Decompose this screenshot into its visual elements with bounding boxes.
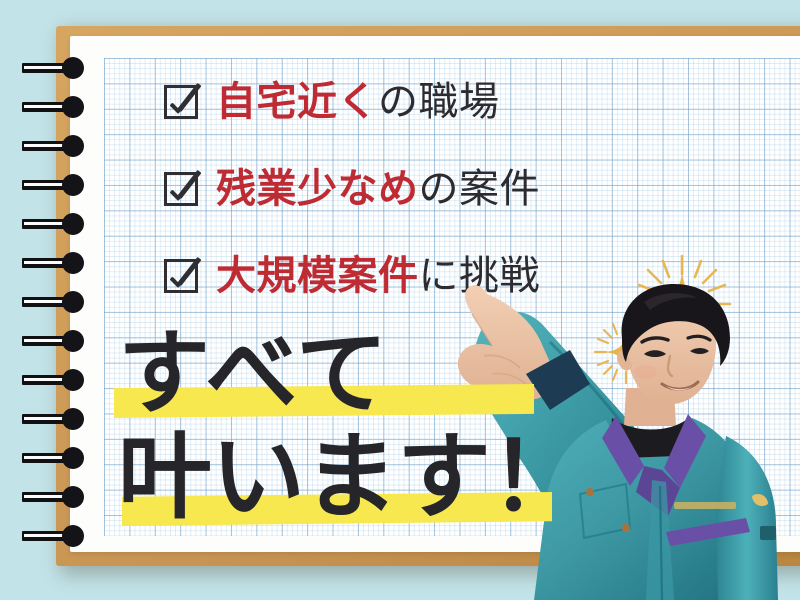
headline-text-2: 叶います！ bbox=[118, 426, 583, 530]
checklist-plain: の案件 bbox=[419, 166, 541, 212]
checklist-plain: の職場 bbox=[378, 79, 500, 125]
checkbox-checked-icon bbox=[164, 172, 198, 206]
headline-line-2: 叶います！ bbox=[118, 426, 548, 530]
checklist-highlight: 残業少なめ bbox=[216, 166, 419, 212]
spiral-ring-knob bbox=[62, 252, 84, 274]
spiral-ring-knob bbox=[62, 213, 84, 235]
spiral-ring-knob bbox=[62, 96, 84, 118]
spiral-ring-knob bbox=[62, 57, 84, 79]
checklist-highlight: 大規模案件 bbox=[216, 253, 419, 299]
spiral-ring-knob bbox=[62, 486, 84, 508]
spiral-ring-knob bbox=[62, 408, 84, 430]
spiral-ring-knob bbox=[62, 174, 84, 196]
spiral-ring-knob bbox=[62, 135, 84, 157]
checklist-highlight: 自宅近く bbox=[216, 79, 378, 125]
spiral-ring-knob bbox=[62, 330, 84, 352]
checklist-row: 残業少なめの案件 bbox=[164, 145, 684, 232]
spiral-ring-knob bbox=[62, 525, 84, 547]
checklist-text: 自宅近くの職場 bbox=[216, 82, 500, 122]
checkbox-checked-icon bbox=[164, 85, 198, 119]
checklist-text: 残業少なめの案件 bbox=[216, 169, 540, 209]
spiral-ring-knob bbox=[62, 369, 84, 391]
banner-canvas: 自宅近くの職場残業少なめの案件大規模案件に挑戦 すべて 叶います！ bbox=[0, 0, 800, 600]
spiral-ring-knob bbox=[62, 447, 84, 469]
checklist-row: 自宅近くの職場 bbox=[164, 58, 684, 145]
spiral-binding bbox=[0, 0, 120, 600]
spiral-ring-knob bbox=[62, 291, 84, 313]
headline-text-1: すべて bbox=[118, 322, 390, 426]
checkbox-checked-icon bbox=[164, 259, 198, 293]
